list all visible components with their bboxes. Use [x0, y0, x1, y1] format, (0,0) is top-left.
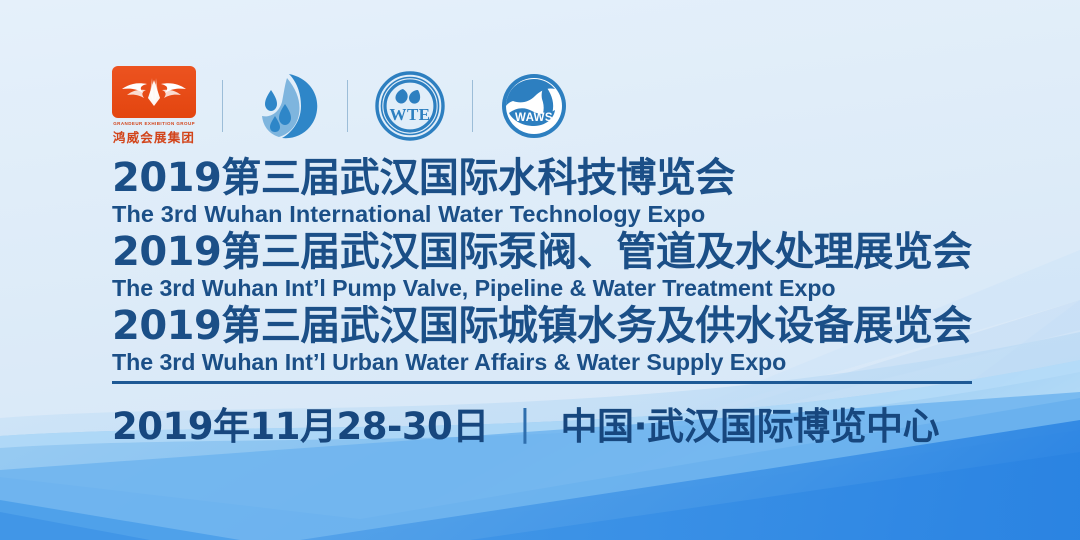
title-block-pump-valve: 2019第三届武汉国际泵阀、管道及水处理展览会 The 3rd Wuhan In… [112, 232, 992, 300]
event-banner: GRANDEUR EXHIBITION GROUP 鸿威会展集团 WTE [0, 0, 1080, 540]
logo-divider-1 [222, 80, 223, 132]
title-block-urban-water: 2019第三届武汉国际城镇水务及供水设备展览会 The 3rd Wuhan In… [112, 306, 992, 374]
event-venue: 中国·武汉国际博览中心 [560, 396, 939, 450]
logo-row: GRANDEUR EXHIBITION GROUP 鸿威会展集团 WTE [112, 64, 569, 148]
grandeur-english-name: GRANDEUR EXHIBITION GROUP [113, 121, 195, 126]
event-date: 2019年11月28-30日 [112, 396, 489, 450]
event-footer: 2019年11月28-30日 | 中国·武汉国际博览中心 [112, 396, 939, 450]
wte-circle-icon: WTE [374, 70, 446, 142]
logo-divider-3 [472, 80, 473, 132]
logo-wte: WTE [374, 70, 446, 142]
logo-divider-2 [347, 80, 348, 132]
title-3-chinese: 2019第三届武汉国际城镇水务及供水设备展览会 [112, 306, 992, 348]
title-1-chinese: 2019第三届武汉国际水科技博览会 [112, 158, 992, 200]
logo-grandeur-exhibition-group: GRANDEUR EXHIBITION GROUP 鸿威会展集团 [112, 66, 196, 146]
title-footer-divider [112, 381, 972, 384]
waws-circle-icon: WAWS [499, 71, 569, 141]
svg-text:WAWS: WAWS [515, 112, 553, 124]
water-droplet-icon [249, 70, 321, 142]
svg-text:WTE: WTE [390, 105, 431, 124]
logo-water-droplet [249, 70, 321, 142]
footer-separator: | [519, 403, 531, 444]
grandeur-w-wings-icon [112, 66, 196, 118]
title-block-water-technology: 2019第三届武汉国际水科技博览会 The 3rd Wuhan Internat… [112, 158, 992, 226]
grandeur-chinese-name: 鸿威会展集团 [113, 127, 195, 146]
title-3-english: The 3rd Wuhan Int’l Urban Water Affairs … [112, 350, 992, 374]
logo-waws: WAWS [499, 71, 569, 141]
title-2-chinese: 2019第三届武汉国际泵阀、管道及水处理展览会 [112, 232, 992, 274]
title-1-english: The 3rd Wuhan International Water Techno… [112, 202, 992, 227]
title-stack: 2019第三届武汉国际水科技博览会 The 3rd Wuhan Internat… [112, 158, 992, 380]
title-2-english: The 3rd Wuhan Int’l Pump Valve, Pipeline… [112, 276, 992, 300]
